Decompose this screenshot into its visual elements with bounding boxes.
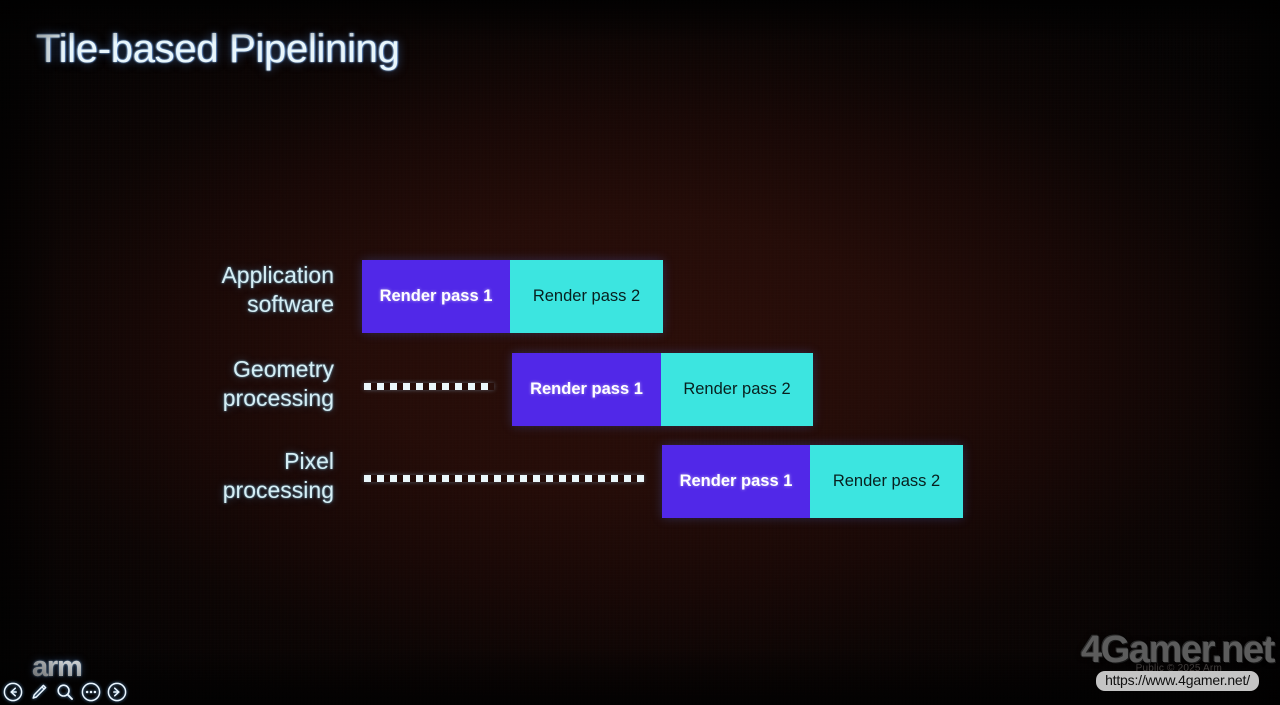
pipeline-row-geometry-processing: Render pass 1 Render pass 2 [512,353,813,426]
row-label-pixel-processing: Pixel processing [130,447,334,505]
back-arrow-icon[interactable] [2,681,24,703]
pen-icon[interactable] [28,681,50,703]
arm-logo: arm [32,651,82,684]
slide-photo-stage: Tile-based Pipelining Application softwa… [0,0,1280,705]
row-label-geometry-processing: Geometry processing [130,355,334,413]
render-pass-2-block[interactable]: Render pass 2 [510,260,663,333]
render-pass-2-block[interactable]: Render pass 2 [661,353,813,426]
pipeline-row-application-software: Render pass 1 Render pass 2 [362,260,663,333]
search-icon[interactable] [54,681,76,703]
watermark-logo: 4Gamer.net [1081,630,1274,670]
viewer-toolbar [2,681,128,703]
dotted-line [364,475,644,482]
watermark: 4Gamer.net https://www.4gamer.net/ [1081,630,1274,691]
watermark-url[interactable]: https://www.4gamer.net/ [1096,671,1259,691]
render-pass-1-block[interactable]: Render pass 1 [512,353,661,426]
more-options-icon[interactable] [80,681,102,703]
tile-based-pipelining-diagram: Application software Render pass 1 Rende… [0,0,1280,705]
render-pass-1-block[interactable]: Render pass 1 [662,445,810,518]
forward-arrow-icon[interactable] [106,681,128,703]
leader-line-pixel-processing [364,475,644,482]
render-pass-2-block[interactable]: Render pass 2 [810,445,963,518]
pipeline-row-pixel-processing: Render pass 1 Render pass 2 [662,445,963,518]
row-label-application-software: Application software [130,261,334,319]
render-pass-1-block[interactable]: Render pass 1 [362,260,510,333]
leader-line-geometry-processing [364,383,494,390]
dotted-line [364,383,494,390]
